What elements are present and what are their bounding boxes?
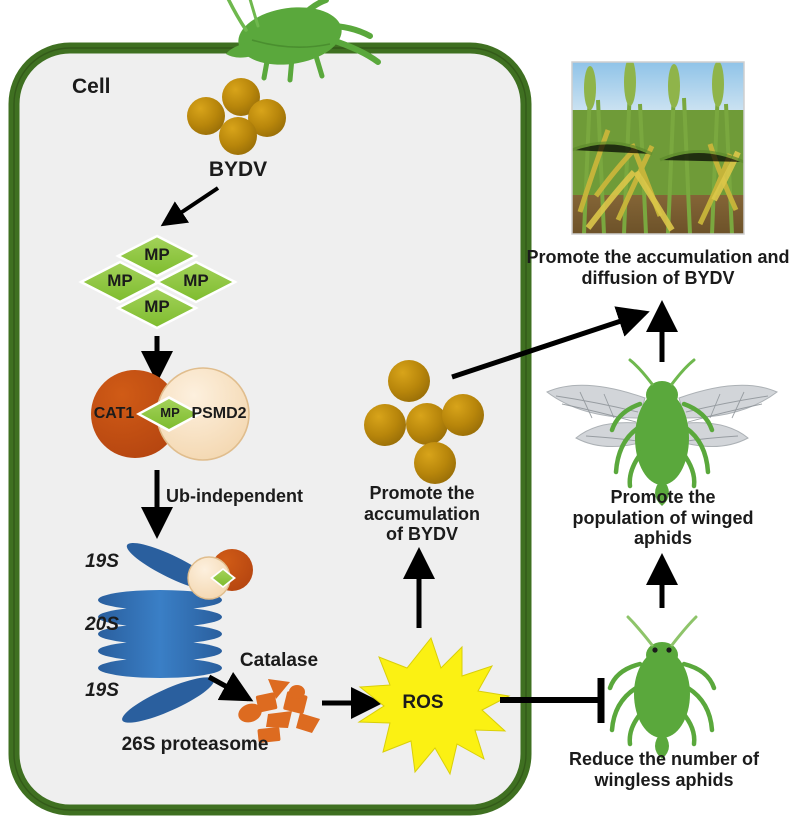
cat1-label: CAT1 bbox=[84, 405, 144, 423]
wingless-aphids-label: Reduce the number of wingless aphids bbox=[556, 749, 772, 790]
cap-19s-bottom-label: 19S bbox=[78, 680, 126, 702]
core-ring-5 bbox=[98, 658, 222, 678]
field-label: Promote the accumulation and diffusion o… bbox=[524, 247, 792, 288]
proteasome-name-label: 26S proteasome bbox=[100, 734, 290, 756]
diagram-canvas: Cell BYDV MP MP MP MP CAT1 MP PSMD2 Ub-i… bbox=[0, 0, 800, 825]
catalase-label: Catalase bbox=[224, 650, 334, 672]
psmd2-label: PSMD2 bbox=[180, 405, 258, 423]
winged-aphids-label: Promote the population of winged aphids bbox=[558, 487, 768, 549]
winged-aphid bbox=[547, 360, 777, 506]
wheat-field-photo bbox=[572, 58, 744, 234]
mp-label-top: MP bbox=[132, 245, 182, 265]
mp-label-bottom: MP bbox=[132, 297, 182, 317]
wingless-aphid bbox=[610, 617, 714, 759]
accumulation-label: Promote the accumulation of BYDV bbox=[334, 483, 510, 545]
cap-19s-top-label: 19S bbox=[78, 551, 126, 573]
ub-independent-label: Ub-independent bbox=[166, 486, 336, 507]
core-20s-label: 20S bbox=[78, 614, 126, 636]
mp-label-left: MP bbox=[95, 271, 145, 291]
bydv-label-top: BYDV bbox=[178, 158, 298, 182]
ros-label: ROS bbox=[394, 692, 452, 714]
mp-label-right: MP bbox=[171, 271, 221, 291]
cell-label: Cell bbox=[72, 75, 162, 99]
